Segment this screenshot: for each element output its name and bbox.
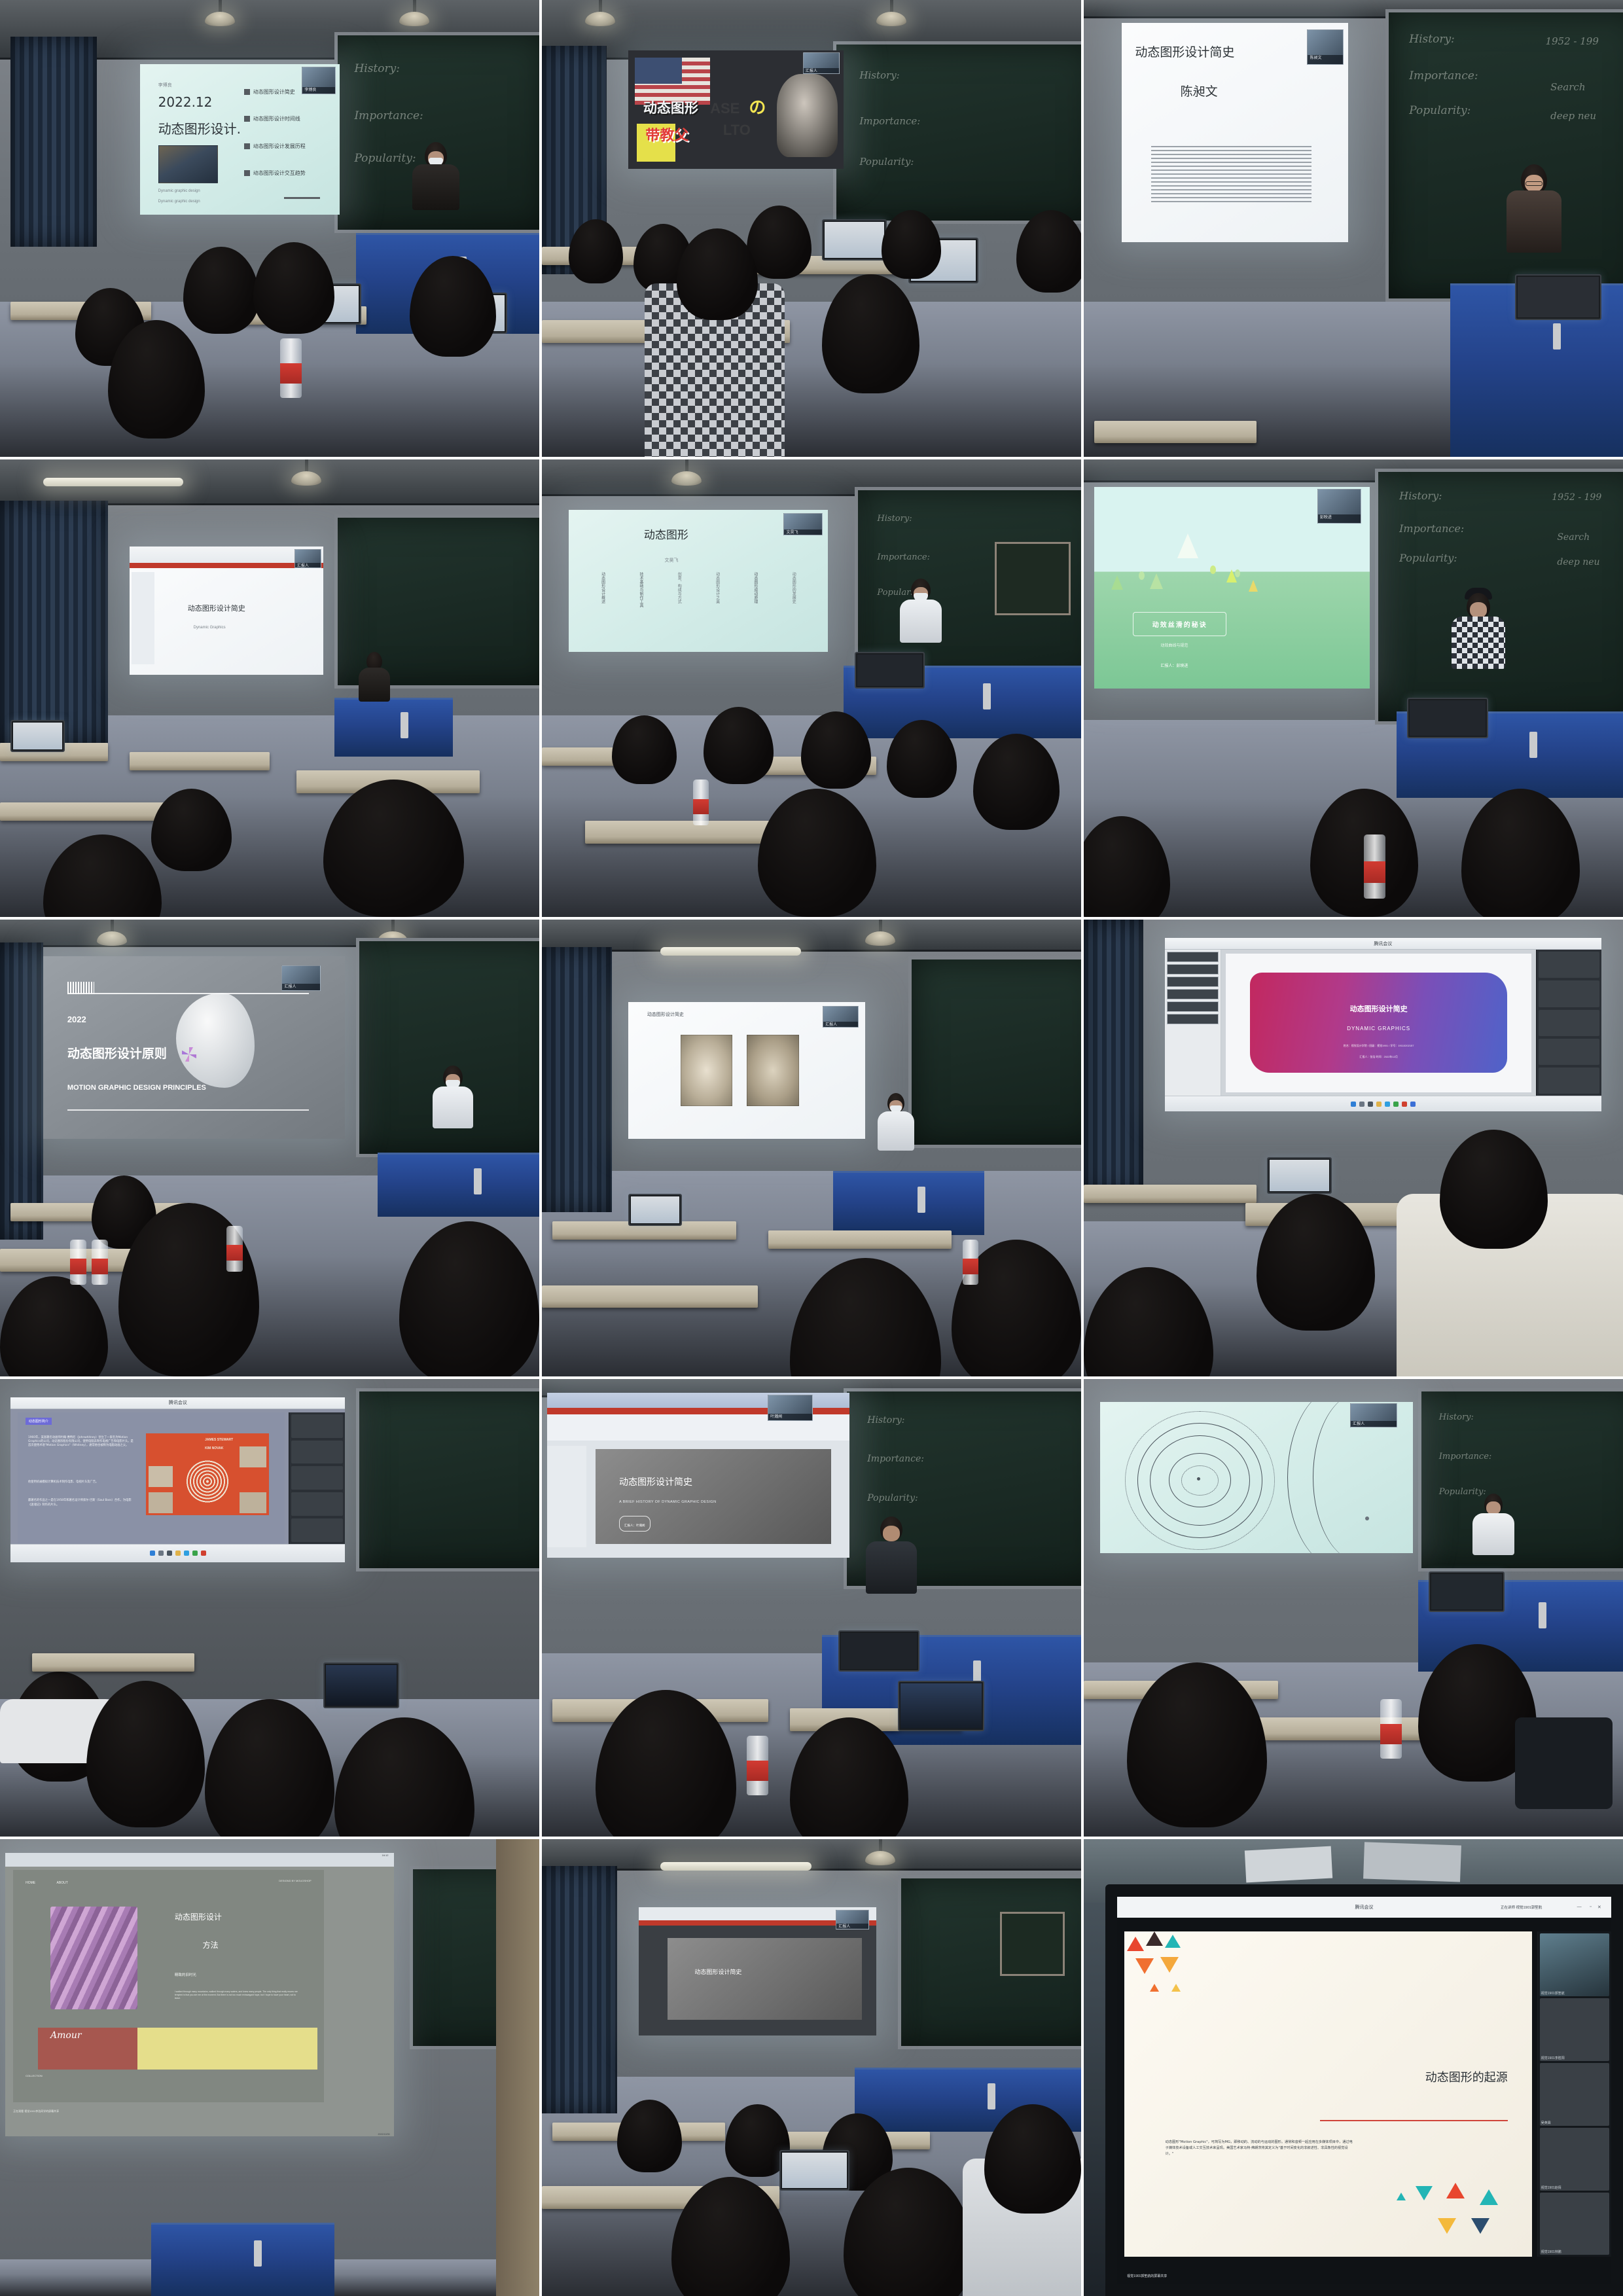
participant-tile[interactable] — [1539, 1067, 1599, 1094]
participant-tile[interactable] — [1539, 1039, 1599, 1065]
student-desk — [1084, 1185, 1257, 1203]
slide-title-line2: 方法 — [203, 1939, 219, 1950]
classroom-scene: History: Importance: Popularity: ASE LTO… — [542, 0, 1081, 457]
slide-thumb[interactable] — [1167, 977, 1219, 987]
slide-heading: 动态图形设计简史 — [694, 1967, 741, 1976]
student-laptop — [779, 2150, 849, 2191]
start-icon[interactable] — [1351, 1102, 1356, 1107]
chalk-line: Importance: — [354, 109, 423, 122]
minimize-icon[interactable]: — — [1577, 1905, 1582, 1909]
student-desk — [130, 752, 270, 770]
participant-tile[interactable] — [291, 1492, 344, 1516]
chalk-line: Importance: — [859, 115, 920, 127]
portrait-photo — [777, 74, 837, 157]
photo-cell-r4c3[interactable]: History: Importance: Popularity: 汇报人 — [1084, 1379, 1623, 1836]
projection-screen: 李博良 2022.12 动态图形设计. Dynamic graphic desi… — [140, 64, 340, 215]
triangle-icon — [1160, 1957, 1179, 1973]
chalk-line: Popularity: — [1409, 104, 1471, 117]
orbit-node — [1365, 1516, 1369, 1520]
notebook — [1245, 1846, 1332, 1882]
browser-titlebar — [5, 1853, 393, 1867]
participant-name: 视觉1901林鹏 — [1541, 2250, 1561, 2254]
date: 2022/12/05 — [378, 2133, 390, 2136]
video-pip: 汇报人 — [823, 1006, 858, 1028]
water-bottle — [1380, 1699, 1402, 1759]
video-pip: 汇报人 — [281, 965, 321, 991]
water-bottle — [280, 338, 302, 398]
slide-presenter: 陈昶文 — [1181, 82, 1218, 99]
photo-grid: History: Importance: Popularity: 李博良 202… — [0, 0, 1623, 2296]
thumbs-rail — [132, 572, 155, 664]
slide-presenter: 汇报人：彭映进 — [1160, 662, 1188, 668]
participant-name: 视觉1901李胜阳 — [1541, 2056, 1565, 2060]
student-desk — [1094, 421, 1256, 444]
ceiling — [542, 920, 1081, 952]
poster-title: KIM NOVAK — [205, 1446, 223, 1450]
chalk-line: Importance: — [1409, 69, 1478, 82]
active-tab[interactable]: 正在讲师 视觉1901郭笙航 — [1501, 1905, 1542, 1910]
chalkboard: History: Importance: Popularity: — [1418, 1388, 1623, 1571]
video-pip: 叶瀚闻 — [768, 1395, 813, 1421]
triangle-icon — [1438, 2218, 1456, 2234]
triangle-icon — [1165, 1935, 1181, 1948]
slide-date: 2022.12 — [158, 94, 213, 110]
chalk-line: History: — [877, 514, 912, 524]
student-laptop — [822, 219, 887, 260]
chalkboard — [356, 1388, 539, 1571]
water-bottle — [963, 1240, 979, 1285]
slide-subtitle: 动效曲线与规范 — [1160, 642, 1188, 648]
tree-shape — [1249, 580, 1258, 592]
maximize-icon[interactable]: ▫ — [1590, 1905, 1591, 1909]
slide-image — [747, 1035, 799, 1106]
photo-cell-r4c1[interactable]: 腾讯会议 动态图形简介 1960年，美国著名动画师约翰·惠特尼（Johnwhit… — [0, 1379, 539, 1836]
slide-thumb[interactable] — [1167, 989, 1219, 999]
slide-title: 动态图形设计. — [158, 118, 241, 137]
slide-thumb[interactable] — [1167, 964, 1219, 975]
window-curtain — [542, 947, 612, 1212]
close-icon[interactable]: ✕ — [1597, 1905, 1601, 1910]
tree-ball — [1235, 569, 1240, 577]
lectern — [151, 2223, 334, 2296]
ceiling-lamp — [865, 920, 895, 955]
slide-rule — [284, 197, 320, 199]
slide-stage: 动态图形的起源 动态图形"Motion Graphic"，可简写为MG，即移动的… — [1124, 1931, 1532, 2257]
mandala-dot-ring — [1125, 1411, 1275, 1550]
explorer-icon[interactable] — [1376, 1102, 1382, 1107]
participant-tile[interactable] — [291, 1518, 344, 1542]
slide-title: 动态图形设计简史 — [1135, 43, 1234, 60]
participant-tile[interactable]: 视觉1901赵倩 — [1540, 2128, 1609, 2191]
slide-bullet: 动态图形设计交互趋势 — [244, 170, 306, 177]
chalk-line: Popularity: — [859, 156, 914, 168]
monitor-bezel: 腾讯会议 正在讲师 视觉1901郭笙航 — ▫ ✕ — [1105, 1884, 1623, 2296]
ceiling-lamp — [876, 0, 906, 35]
lock-icon[interactable] — [192, 1551, 198, 1556]
photo-cell-r1c2[interactable]: History: Importance: Popularity: ASE LTO… — [542, 0, 1081, 457]
slide-title-top: 动态图形 — [643, 98, 698, 117]
chalk-line: History: — [1399, 490, 1442, 502]
star-burst-icon — [182, 1047, 196, 1062]
slide-title: 动态图形的起源 — [1425, 2068, 1508, 2085]
slide-heading: 动态图形设计简史 — [647, 1011, 684, 1018]
triangle-icon — [1397, 2193, 1406, 2200]
bg-word: LTO — [723, 122, 751, 139]
slide-paragraph: 1960年，美国著名动画师约翰·惠特尼（Johnwhitney）创立了一家名为M… — [28, 1436, 135, 1448]
poster-photo — [240, 1492, 266, 1513]
title-underline — [1320, 2120, 1507, 2121]
slide-stage: 动态图形设计简史 A BRIEF HISTORY OF DYNAMIC GRAP… — [596, 1449, 831, 1545]
presenter — [431, 1066, 474, 1130]
water-bottle — [693, 780, 709, 825]
vertical-index: 动态图形设计概述 技术基础与制作工具 创意、构成与方式 动态图形设计之美 动态图… — [600, 572, 797, 643]
slide-badge: 动态图形简介 — [26, 1418, 52, 1425]
presenter — [1450, 588, 1507, 670]
taskview-icon[interactable] — [167, 1551, 172, 1556]
slide-image — [681, 1035, 733, 1106]
slide-title: 动效丝滑的秘诀 — [1152, 619, 1207, 629]
chalk-line: Importance: — [1399, 522, 1464, 535]
chalk-line: Importance: — [1439, 1452, 1492, 1462]
glasses-icon — [1525, 181, 1543, 186]
classroom-scene: 腾讯会议 动态图形设计简史 — [1084, 920, 1623, 1376]
presenter — [876, 1093, 916, 1152]
student-laptop — [1267, 1157, 1332, 1194]
index-col: 创意、构成与方式 — [676, 572, 682, 643]
chalk-line: deep neu — [1550, 110, 1596, 122]
chalk-line: History: — [1409, 33, 1455, 46]
bullet-square-icon — [244, 143, 250, 149]
taskbar[interactable] — [1165, 1096, 1601, 1111]
bullet-square-icon — [244, 89, 250, 95]
taskbar[interactable] — [10, 1544, 345, 1562]
presenter-laptop — [855, 652, 925, 689]
app-titlebar: 腾讯会议 正在讲师 视觉1901郭笙航 — ▫ ✕ — [1117, 1897, 1611, 1918]
participant-tile[interactable] — [291, 1466, 344, 1490]
poster-title: JAMES STEWART — [205, 1438, 233, 1442]
chalk-line: Importance: — [867, 1454, 924, 1464]
bg-word: ASE — [710, 100, 740, 117]
slide-rule — [67, 1109, 309, 1111]
triangle-icon — [1127, 1937, 1144, 1951]
slide-thumb[interactable] — [1167, 1014, 1219, 1024]
nav-link[interactable]: ABOUT — [57, 1881, 68, 1885]
slide-bullet: 动态图形设计发展历程 — [244, 143, 306, 150]
video-pip: 汇报人 — [836, 1910, 869, 1929]
app-icon[interactable] — [1410, 1102, 1416, 1107]
app-icon[interactable] — [201, 1551, 206, 1556]
water-bottle — [226, 1226, 243, 1272]
chalk-line: Importance: — [877, 552, 930, 562]
slide-title: 动态图形设计原则 — [67, 1044, 167, 1062]
app-title: 腾讯会议 — [1355, 1904, 1373, 1910]
triangle-icon — [1135, 1958, 1154, 1974]
classroom-scene: 动态图形设计简史 Dynamic Graphics 汇报人 — [0, 459, 539, 916]
chalk-line: 1952 - 199 — [1545, 35, 1598, 47]
presenter — [410, 142, 462, 214]
window-curtain — [10, 37, 97, 247]
chalk-line: Search — [1550, 81, 1585, 93]
notebook — [1364, 1842, 1462, 1882]
classroom-scene: History: Importance: Popularity: 1952 - … — [1084, 459, 1623, 916]
flag-canton — [635, 58, 683, 84]
participant-tile[interactable] — [291, 1414, 344, 1438]
clock: 16:12 — [382, 1854, 388, 1857]
slide-stage: 动态图形设计简史 DYNAMIC GRAPHICS 姓名：视觉设计学院 / 班级… — [1226, 954, 1531, 1092]
classroom-scene: History: Importance: Popularity: 1952 - … — [1084, 0, 1623, 457]
chalk-line: Popularity: — [354, 152, 416, 165]
projection-screen: 动态图形设计简史 汇报人 — [639, 1907, 876, 2036]
slide-presenter: 汇报人：叶瀚闻 — [624, 1524, 645, 1528]
lectern — [833, 1171, 984, 1235]
classroom-scene: HOME ABOUT DESIGND BY MOUOSHOP 动态图形设计 方法… — [0, 1839, 539, 2296]
slide-title-kana: の — [749, 94, 766, 118]
title-pill: 动效丝滑的秘诀 — [1133, 612, 1226, 636]
chalk-line: Search — [1557, 532, 1590, 543]
projection-screen: 动态图形设计简史 陈昶文 陈昶文 — [1122, 23, 1348, 242]
slide-paragraph: 他使用机械模拟计算机技术制作电影、电视片头及广告。 — [28, 1480, 135, 1484]
participant-panel: 视觉1901郭笙航 视觉1901李胜阳 吴英霖 视觉1901赵倩 视觉1901林… — [1537, 1931, 1611, 2257]
participant-tile[interactable]: 吴英霖 — [1540, 2063, 1609, 2126]
chalkboard — [908, 956, 1081, 1148]
ceiling-lamp — [671, 459, 702, 495]
slide-title-line1: 动态图形设计 — [175, 1911, 222, 1922]
poster-photo — [240, 1446, 266, 1467]
ceiling-lamp — [399, 0, 429, 35]
taskview-icon[interactable] — [1368, 1102, 1373, 1107]
photo-cell-r4c2[interactable]: History: Importance: Popularity: 动态图形设计简… — [542, 1379, 1081, 1836]
ceiling — [542, 1839, 1081, 1871]
projection-screen: HOME ABOUT DESIGND BY MOUOSHOP 动态图形设计 方法… — [5, 1853, 393, 2136]
presenter-pill: 汇报人：叶瀚闻 — [619, 1516, 651, 1532]
slide-body: 动态图形"Motion Graphic"，可简写为MG，即移动的、流动的与运动的… — [1166, 2140, 1353, 2157]
monitor-scene: 腾讯会议 正在讲师 视觉1901郭笙航 — ▫ ✕ — [1084, 1839, 1623, 2296]
triangle-cluster-bottom — [1393, 2172, 1532, 2257]
index-col: 动态图形成动原理 — [753, 572, 758, 643]
presenter-laptop — [1429, 1571, 1504, 1613]
browser-icon[interactable] — [184, 1551, 189, 1556]
video-pip: 陈昶文 — [1307, 29, 1343, 65]
fluorescent-tube — [660, 947, 800, 956]
search-icon[interactable] — [1359, 1102, 1364, 1107]
fluorescent-tube — [660, 1862, 811, 1871]
chalk-line: Popularity: — [867, 1493, 918, 1503]
classroom-scene: 动态图形设计简史 汇报人 — [542, 920, 1081, 1376]
water-bottle — [747, 1736, 768, 1795]
photo-cell-r2c1[interactable]: 动态图形设计简史 Dynamic Graphics 汇报人 — [0, 459, 539, 916]
ceiling-lamp — [97, 920, 127, 955]
student-laptop — [628, 1194, 682, 1226]
triangle-icon — [1480, 2189, 1498, 2205]
browser-icon[interactable] — [1385, 1102, 1390, 1107]
search-icon[interactable] — [158, 1551, 164, 1556]
chalkboard: History: Importance: Popularity: — [833, 41, 1081, 224]
presenter — [865, 1516, 918, 1595]
participant-tile[interactable] — [1539, 980, 1599, 1007]
poster-photo — [149, 1492, 173, 1513]
lock-icon[interactable] — [1393, 1102, 1399, 1107]
projection-screen: 动态图形设计简史 汇报人 — [628, 1002, 866, 1139]
projection-screen: 动态图形设计简史 A BRIEF HISTORY OF DYNAMIC GRAP… — [547, 1393, 849, 1557]
slide-presenter: 文昊飞 — [665, 557, 679, 564]
slide-bullet: 动态图形设计时间线 — [244, 115, 300, 122]
chalkboard: History: Importance: Popularity: 1952 - … — [1385, 9, 1623, 302]
slide-author: 李博良 — [158, 82, 172, 88]
student-laptop — [898, 1681, 984, 1731]
photo-cell-r1c3[interactable]: History: Importance: Popularity: 1952 - … — [1084, 0, 1623, 457]
slide-latin-line: Dynamic graphic design — [158, 189, 200, 193]
thumb-rail — [547, 1446, 586, 1548]
lectern — [378, 1153, 539, 1217]
chalk-line: History: — [867, 1415, 904, 1426]
presenter-laptop — [1515, 274, 1601, 320]
blob-shape — [176, 993, 255, 1088]
chalk-line: Popularity: — [1399, 552, 1457, 564]
chalk-line: 1952 - 199 — [1552, 492, 1601, 503]
triangle-icon — [1446, 2183, 1465, 2198]
thumb-list — [1167, 952, 1219, 1024]
slide-thumb[interactable] — [1167, 1001, 1219, 1012]
slide-subtitle-cn: 精致的旧时光 — [175, 1972, 196, 1977]
poster-photo — [149, 1466, 173, 1487]
classroom-scene: 腾讯会议 动态图形简介 1960年，美国著名动画师约翰·惠特尼（Johnwhit… — [0, 1379, 539, 1836]
app-icon[interactable] — [1402, 1102, 1407, 1107]
script-word: Amour — [50, 2030, 82, 2041]
slide-hatch — [67, 982, 95, 995]
slide-year: 2022 — [67, 1014, 86, 1024]
photo-cell-r3c3[interactable]: 腾讯会议 动态图形设计简史 — [1084, 920, 1623, 1376]
slide-title: 动态图形设计简史 — [619, 1475, 692, 1488]
participant-tile[interactable]: 视觉1901林鹏 — [1540, 2193, 1609, 2255]
photo-cell-r2c2[interactable]: History: Importance: Popularity: 动态图形 文昊… — [542, 459, 1081, 916]
projection-screen: ASE LTO 动态图形 の 带教父 汇报人 — [628, 50, 844, 170]
tree-ball — [1139, 571, 1145, 580]
slide-title: 动态图形设计简史 — [188, 603, 245, 613]
participant-panel — [289, 1412, 346, 1544]
triangle-icon — [1150, 1984, 1159, 1992]
nav-link[interactable]: HOME — [26, 1881, 35, 1885]
participant-name: 视觉1901赵倩 — [1541, 2185, 1561, 2190]
slide-title: 动态图形 — [644, 526, 688, 542]
vertigo-poster: JAMES STEWART KIM NOVAK — [146, 1433, 269, 1515]
classroom-scene: 动态图形设计简史 汇报人 — [542, 1839, 1081, 2296]
deck-subtitle: DYNAMIC GRAPHICS — [1347, 1026, 1410, 1031]
spiral-icon — [185, 1460, 230, 1503]
photo-cell-r5c2[interactable]: 动态图形设计简史 汇报人 — [542, 1839, 1081, 2296]
chalk-line: History: — [1439, 1412, 1474, 1422]
deck-meta: 汇报人：张浩 时间：2022年12月 — [1359, 1055, 1397, 1059]
slide-latin-line: Dynamic graphic design — [158, 200, 200, 204]
slide-rule — [67, 993, 309, 994]
slide-subtitle: MOTION GRAPHIC DESIGN PRINCIPLES — [67, 1084, 206, 1092]
typography-art — [50, 1907, 137, 2009]
projection-screen: 动态图形设计简史 Dynamic Graphics 汇报人 — [130, 547, 324, 675]
presenter-laptop — [838, 1630, 919, 1672]
slide-thumbnail-rail[interactable] — [1165, 950, 1222, 1096]
tree-ball — [1210, 565, 1216, 574]
photo-cell-r2c3[interactable]: History: Importance: Popularity: 1952 - … — [1084, 459, 1623, 916]
student-laptop — [323, 1662, 399, 1708]
slide-presenter: Dynamic Graphics — [194, 626, 226, 630]
participant-tile[interactable] — [291, 1441, 344, 1464]
participant-name: 视觉1901郭笙航 — [1541, 1991, 1565, 1996]
tree-shape — [1177, 533, 1198, 558]
classroom-scene: History: Importance: Popularity: 李博良 202… — [0, 0, 539, 457]
fluorescent-tube — [43, 478, 183, 486]
app-titlebar: 腾讯会议 — [1165, 938, 1601, 950]
tree-shape — [1111, 575, 1123, 590]
video-pip: 汇报人 — [294, 549, 322, 568]
slide-bullet: 动态图形设计简史 — [244, 88, 295, 96]
slide-thumb[interactable] — [1167, 952, 1219, 962]
projection-screen: 动效丝滑的秘诀 动效曲线与规范 汇报人：彭映进 彭映进 — [1094, 487, 1369, 688]
projection-screen: 腾讯会议 动态图形简介 1960年，美国著名动画师约翰·惠特尼（Johnwhit… — [10, 1397, 345, 1562]
water-bottle — [70, 1240, 86, 1285]
video-pip: 李博良 — [302, 67, 336, 94]
classroom-scene: History: Importance: Popularity: 动态图形设计简… — [542, 1379, 1081, 1836]
share-status-bar: 正在观看 视觉1901李浩同学的屏幕共享 — [13, 2109, 59, 2113]
presenter — [1505, 164, 1563, 256]
participant-tile-video[interactable]: 视觉1901郭笙航 — [1540, 1933, 1609, 1996]
slide-stage: 动态图形简介 1960年，美国著名动画师约翰·惠特尼（Johnwhitney）创… — [18, 1412, 285, 1544]
slide-photo — [158, 145, 218, 183]
chalk-line: History: — [354, 62, 400, 75]
photo-cell-r3c2[interactable]: 动态图形设计简史 汇报人 — [542, 920, 1081, 1376]
explorer-icon[interactable] — [175, 1551, 181, 1556]
meeting-app-window[interactable]: 腾讯会议 正在讲师 视觉1901郭笙航 — ▫ ✕ — [1117, 1897, 1611, 2284]
photo-cell-r5c1[interactable]: HOME ABOUT DESIGND BY MOUOSHOP 动态图形设计 方法… — [0, 1839, 539, 2296]
app-titlebar: 腾讯会议 — [10, 1397, 345, 1409]
water-bottle — [1364, 834, 1385, 899]
slide-paragraph: 最著名的作品之一是在1958年和著名设计师索尔·巴斯（Saul Bass）合作，… — [28, 1499, 135, 1507]
participant-tile[interactable]: 视觉1901李胜阳 — [1540, 1998, 1609, 2061]
presentation-app-window[interactable]: 腾讯会议 动态图形设计简史 — [1165, 938, 1601, 1111]
video-pip: 文昊飞 — [783, 513, 822, 536]
bulletin-board — [995, 542, 1070, 615]
slide-subtitle: A BRIEF HISTORY OF DYNAMIC GRAPHIC DESIG… — [619, 1500, 716, 1504]
ceiling-lamp — [865, 1839, 895, 1874]
presentation-app-window[interactable]: 腾讯会议 动态图形简介 1960年，美国著名动画师约翰·惠特尼（Johnwhit… — [10, 1397, 345, 1562]
index-col: 动态图形设计概述 — [600, 572, 606, 643]
participant-tile[interactable] — [1539, 1010, 1599, 1036]
index-col: 动态图形的发展史 — [791, 572, 796, 643]
photo-cell-r1c1[interactable]: History: Importance: Popularity: 李博良 202… — [0, 0, 539, 457]
projection-screen: 汇报人 — [1100, 1402, 1413, 1552]
deck-title: 动态图形设计简史 — [1350, 1003, 1408, 1014]
web-stage: HOME ABOUT DESIGND BY MOUOSHOP 动态图形设计 方法… — [13, 1870, 324, 2102]
projection-screen: 2022 动态图形设计原则 MOTION GRAPHIC DESIGN PRIN… — [43, 956, 345, 1139]
photo-cell-r5c3[interactable]: 腾讯会议 正在讲师 视觉1901郭笙航 — ▫ ✕ — [1084, 1839, 1623, 2296]
bullet-square-icon — [244, 116, 250, 122]
door-frame — [496, 1839, 539, 2296]
window-curtain — [1084, 920, 1143, 1194]
index-col: 技术基础与制作工具 — [638, 572, 644, 643]
start-icon[interactable] — [150, 1551, 155, 1556]
participant-name: 吴英霖 — [1541, 2121, 1551, 2125]
ceiling-lamp — [205, 0, 235, 35]
student-desk — [32, 1653, 194, 1672]
photo-cell-r3c1[interactable]: 2022 动态图形设计原则 MOTION GRAPHIC DESIGN PRIN… — [0, 920, 539, 1376]
ceiling-lamp — [291, 459, 321, 495]
chalk-line: deep neu — [1557, 557, 1599, 567]
tree-shape — [1150, 573, 1163, 589]
triangle-cluster-top — [1124, 1931, 1230, 2016]
participant-tile[interactable] — [1539, 952, 1599, 978]
video-pip: 汇报人 — [803, 52, 840, 74]
video-pip: 彭映进 — [1317, 489, 1361, 523]
classroom-scene: History: Importance: Popularity: 动态图形 文昊… — [542, 459, 1081, 916]
ceiling-lamp — [585, 0, 615, 35]
